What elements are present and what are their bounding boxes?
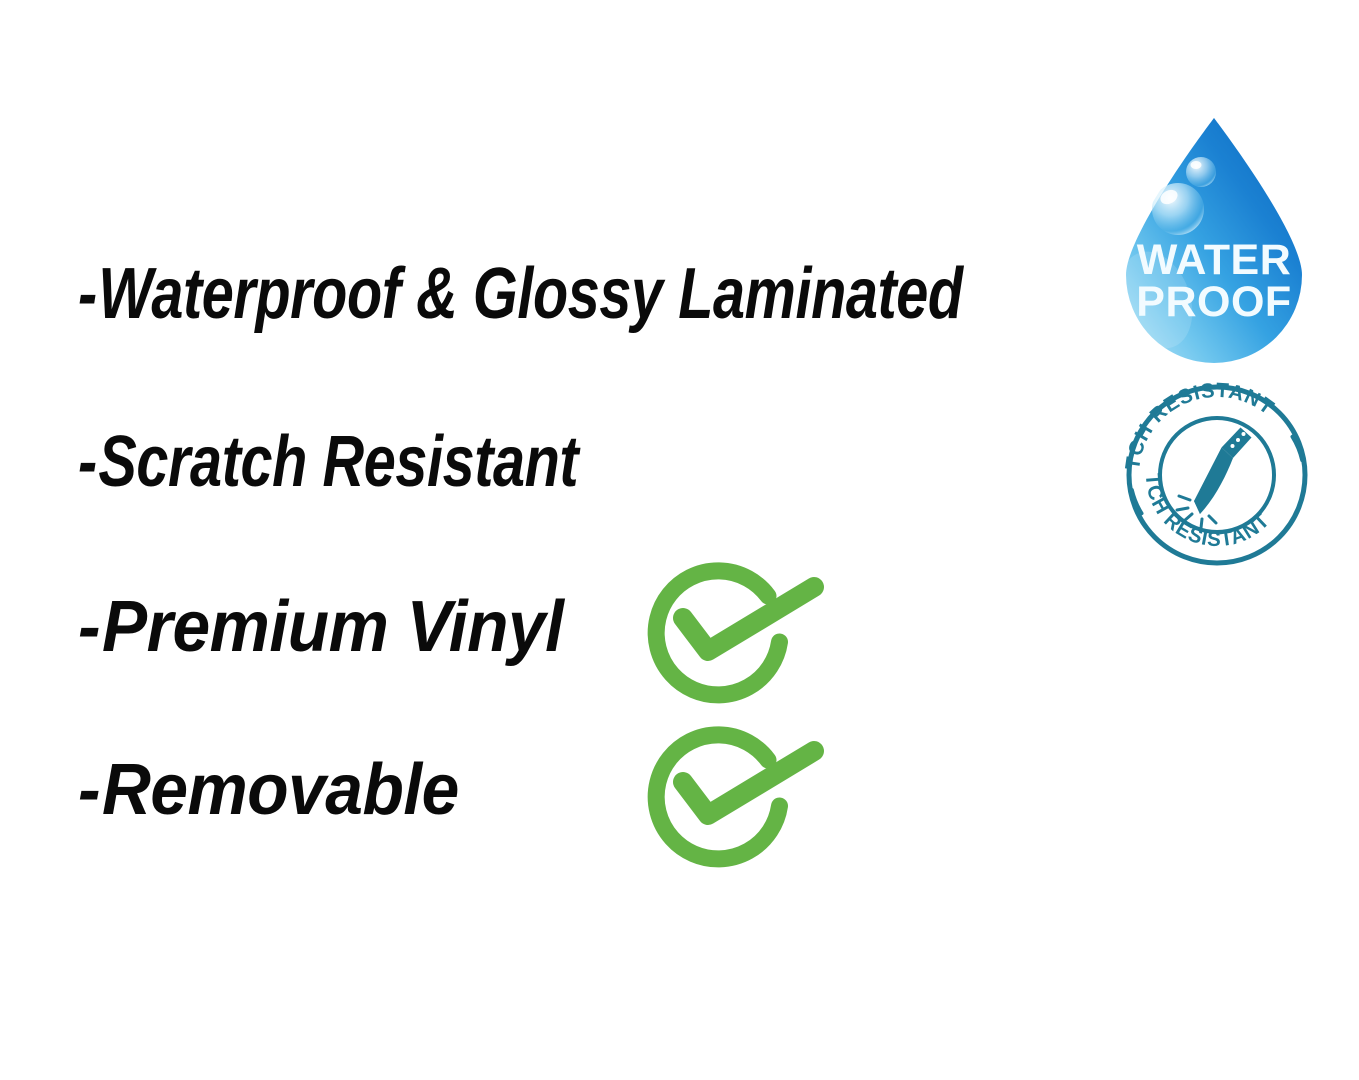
feature-item-scratch-resistant: -Scratch Resistant [78,426,578,498]
feature-label: Waterproof & Glossy Laminated [98,254,962,334]
green-check-circle-icon [636,720,836,870]
waterproof-line1: WATER [1137,236,1292,284]
bullet-dash: - [78,754,100,826]
feature-item-removable: -Removable [78,754,459,826]
waterproof-line2: PROOF [1136,278,1291,326]
green-check-circle-icon [636,556,836,706]
feature-poster: -Waterproof & Glossy Laminated -Scratch … [0,0,1359,1080]
feature-label: Premium Vinyl [102,587,564,667]
feature-label: Scratch Resistant [98,422,578,502]
waterproof-drop-badge: WATER PROOF [1098,104,1330,376]
scratch-resistant-seal-badge: SCRATCH RESISTANT SCRATCH RESISTANT [1122,380,1312,570]
bullet-dash: - [78,258,97,330]
knife-icon [1177,428,1252,529]
water-bubble-small [1186,157,1216,187]
bullet-dash: - [78,426,97,498]
bullet-dash: - [78,591,100,663]
feature-item-waterproof-glossy-laminated: -Waterproof & Glossy Laminated [78,258,963,330]
feature-list: -Waterproof & Glossy Laminated -Scratch … [0,0,1100,1080]
feature-label: Removable [102,750,459,830]
feature-item-premium-vinyl: -Premium Vinyl [78,591,563,663]
seal-text-top: SCRATCH RESISTANT [1122,380,1278,471]
